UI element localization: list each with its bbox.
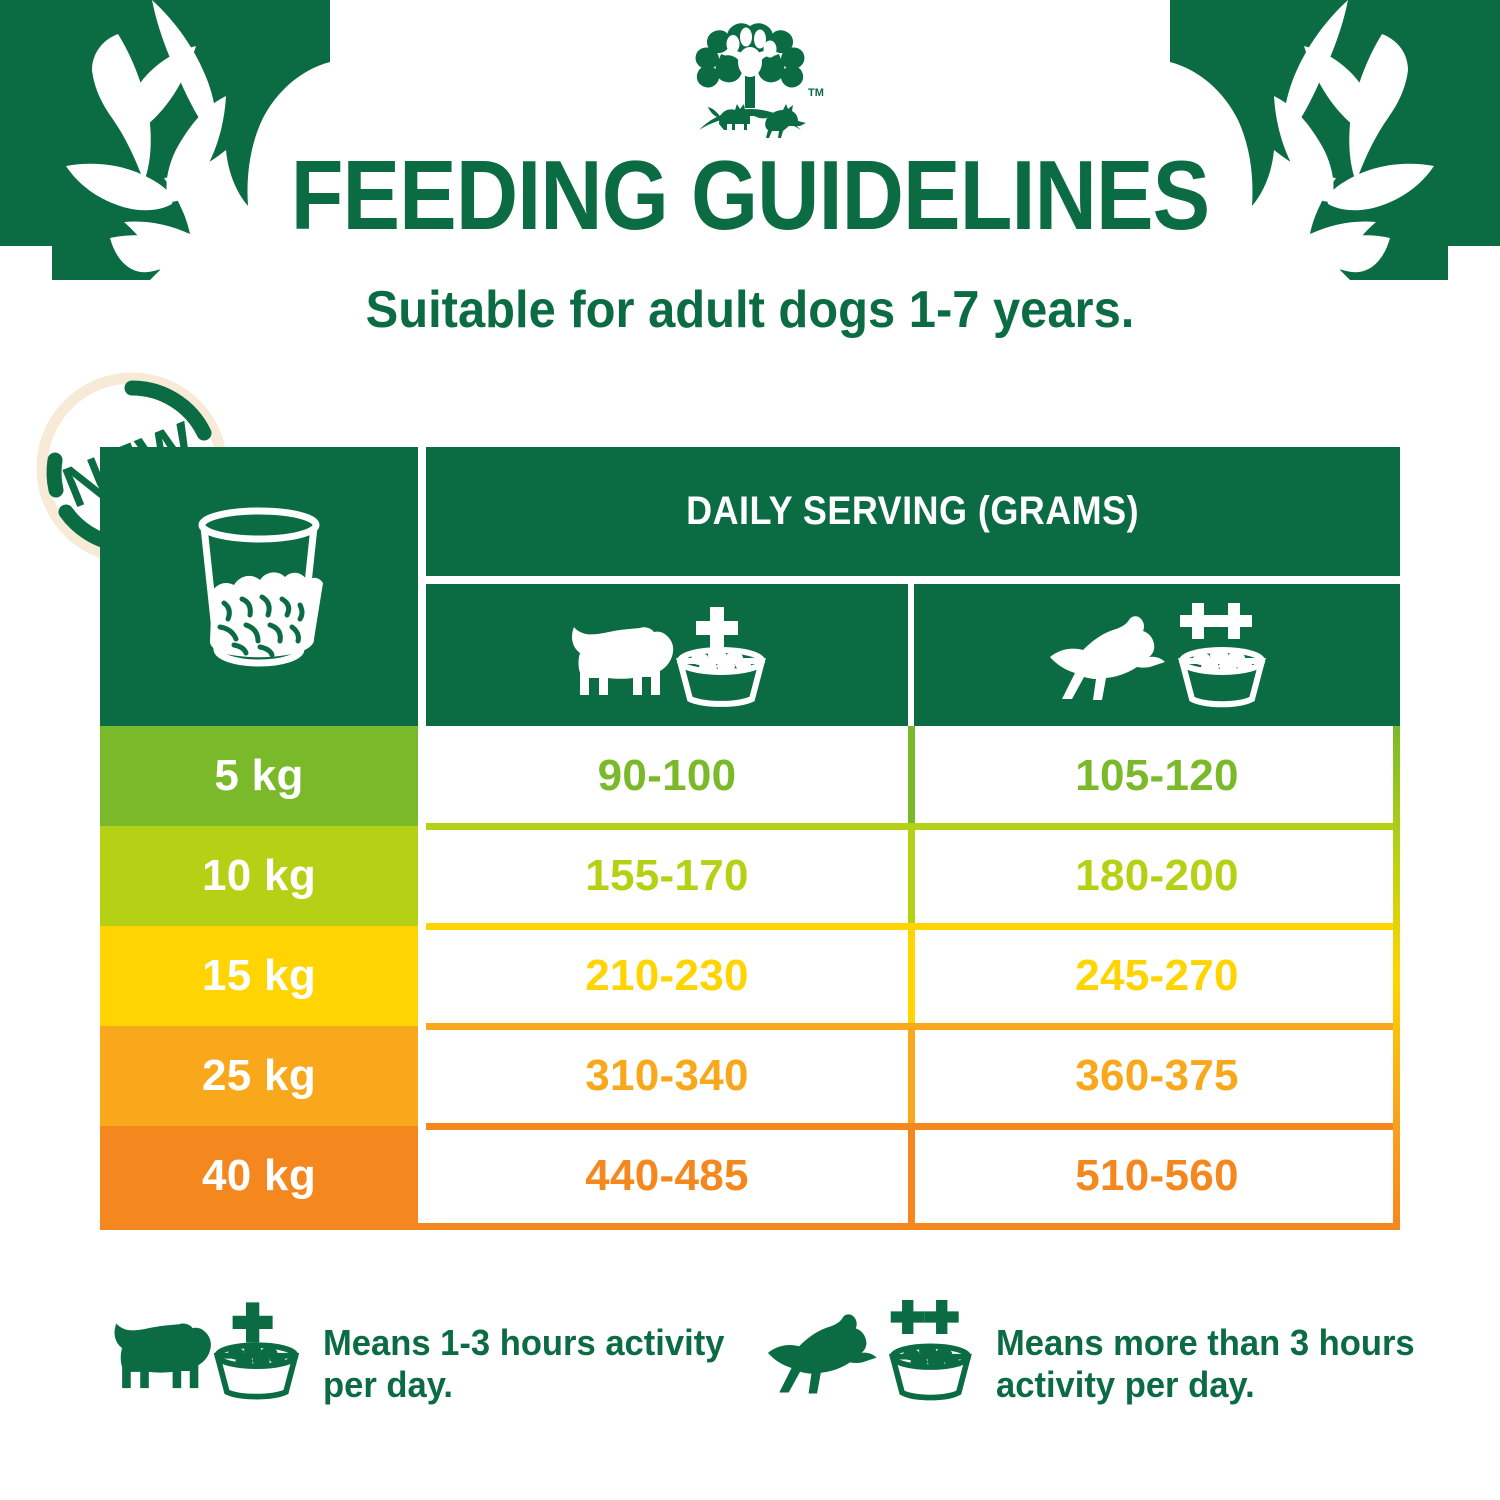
daily-serving-header: DAILY SERVING (GRAMS) [426, 447, 1400, 576]
table-row: 5 kg90-100105-120 [100, 726, 1400, 826]
jumping-dog-with-bowl-icon [1042, 601, 1272, 709]
column-divider [908, 1126, 915, 1226]
weight-cell: 25 kg [100, 1026, 418, 1126]
table-right-edge [1393, 726, 1400, 1226]
table-row: 25 kg310-340360-375 [100, 1026, 1400, 1126]
column-divider [908, 726, 915, 826]
column-divider [908, 826, 915, 926]
tree-paw-cat-dog-logo-icon: TM [675, 18, 825, 138]
weight-cell: 15 kg [100, 926, 418, 1026]
standing-dog-with-bowl-icon [105, 1300, 305, 1400]
low-activity-column-header [426, 584, 908, 726]
high-activity-value-cell: 180-200 [914, 826, 1400, 926]
standing-dog-with-bowl-icon [562, 603, 772, 707]
trademark-mark: TM [808, 87, 824, 99]
low-activity-value-cell: 310-340 [426, 1026, 908, 1126]
high-activity-value-cell: 360-375 [914, 1026, 1400, 1126]
legend-high-activity-text: Means more than 3 hours activity per day… [996, 1300, 1415, 1407]
page-title: FEEDING GUIDELINES [90, 146, 1410, 244]
infographic-canvas: TM FEEDING GUIDELINES Suitable for adult… [0, 0, 1500, 1500]
table-row: 15 kg210-230245-270 [100, 926, 1400, 1026]
table-bottom-edge [100, 1223, 1400, 1230]
table-row: 40 kg440-485510-560 [100, 1126, 1400, 1226]
brand-logo: TM [0, 18, 1500, 138]
measuring-cup-with-kibble-icon [190, 507, 328, 667]
weight-cell: 10 kg [100, 826, 418, 926]
low-activity-value-cell: 155-170 [426, 826, 908, 926]
legend-high-activity-icon-wrap [760, 1300, 978, 1402]
legend-item-low-activity: Means 1-3 hours activity per day. [105, 1300, 741, 1407]
low-activity-value-cell: 440-485 [426, 1126, 908, 1226]
legend-item-high-activity: Means more than 3 hours activity per day… [760, 1300, 1432, 1407]
high-activity-value-cell: 105-120 [914, 726, 1400, 826]
feeding-table: DAILY SERVING (GRAMS) [100, 447, 1400, 1228]
measuring-cup-header-cell [100, 447, 418, 726]
low-activity-value-cell: 210-230 [426, 926, 908, 1026]
weight-cell: 5 kg [100, 726, 418, 826]
jumping-dog-with-bowl-icon [760, 1300, 978, 1402]
activity-legend: Means 1-3 hours activity per day. [100, 1300, 1440, 1430]
legend-low-activity-icon-wrap [105, 1300, 305, 1400]
daily-serving-header-label: DAILY SERVING (GRAMS) [687, 489, 1140, 534]
column-divider [908, 926, 915, 1026]
high-activity-value-cell: 510-560 [914, 1126, 1400, 1226]
table-row: 10 kg155-170180-200 [100, 826, 1400, 926]
column-divider [908, 1026, 915, 1126]
page-subtitle: Suitable for adult dogs 1-7 years. [45, 284, 1455, 336]
weight-cell: 40 kg [100, 1126, 418, 1226]
high-activity-column-header [914, 584, 1400, 726]
legend-low-activity-text: Means 1-3 hours activity per day. [323, 1300, 724, 1407]
high-activity-value-cell: 245-270 [914, 926, 1400, 1026]
low-activity-value-cell: 90-100 [426, 726, 908, 826]
